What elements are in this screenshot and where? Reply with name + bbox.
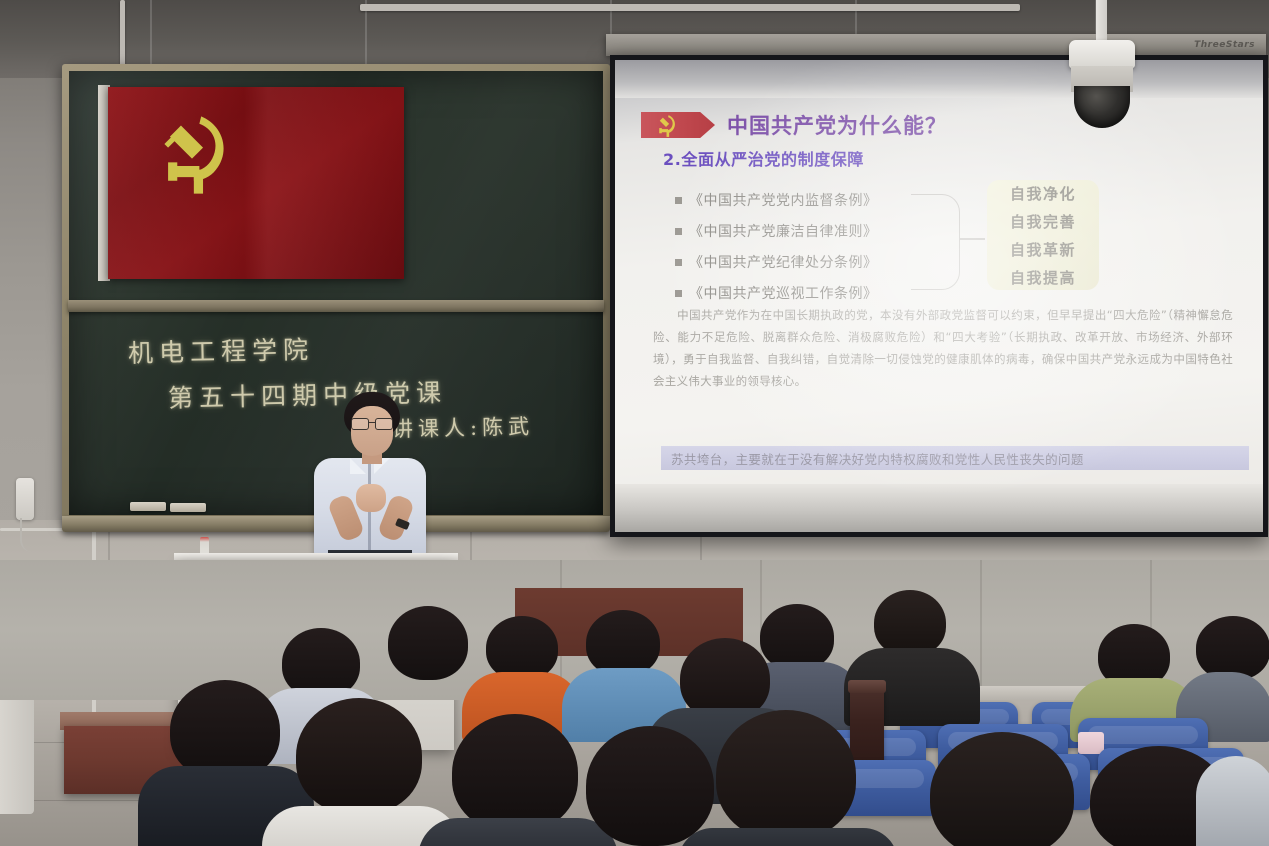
callout-box: 自我净化 自我完善 自我革新 自我提高 — [987, 180, 1099, 290]
bullet-label: 《中国共产党纪律处分条例》 — [689, 252, 878, 272]
projection-screen-housing — [606, 34, 1266, 56]
pink-cup[interactable] — [1078, 732, 1104, 754]
rear-wall-seam — [980, 560, 982, 700]
student-head — [452, 714, 578, 832]
speaker-hands — [356, 484, 386, 512]
phone-cord — [20, 518, 32, 552]
callout-line: 自我革新 — [1010, 239, 1076, 260]
curly-brace-graphic — [911, 194, 960, 290]
thermos-cap — [848, 680, 886, 693]
student-head — [170, 680, 280, 780]
student-head — [586, 610, 660, 676]
thermos-bottle[interactable] — [850, 688, 884, 770]
callout-line: 自我提高 — [1010, 267, 1076, 288]
slide-subtitle: 2.全面从严治党的制度保障 — [663, 146, 864, 170]
chalk-eraser[interactable] — [170, 503, 206, 512]
bullet-square-icon — [675, 197, 682, 204]
bullet-item: 《中国共产党党内监督条例》 — [675, 190, 878, 210]
bullet-square-icon — [675, 290, 682, 297]
bullet-square-icon — [675, 228, 682, 235]
chalk-line-1: 机电工程学院 — [128, 330, 315, 370]
projection-screen-frame: 中国共产党为什么能？ 2.全面从严治党的制度保障 《中国共产党党内监督条例》 《… — [610, 55, 1268, 537]
slide-bullet-list: 《中国共产党党内监督条例》 《中国共产党廉洁自律准则》 《中国共产党纪律处分条例… — [675, 190, 878, 314]
party-emblem-icon — [653, 113, 679, 139]
student-head — [486, 616, 558, 680]
student-body — [1196, 756, 1269, 846]
flag-cloth — [108, 87, 404, 279]
student-head — [586, 726, 714, 846]
student-head — [930, 732, 1074, 846]
presentation-slide: 中国共产党为什么能？ 2.全面从严治党的制度保障 《中国共产党党内监督条例》 《… — [615, 98, 1263, 484]
speaker-face — [351, 406, 393, 456]
highlight-bar: 苏共垮台，主要就在于没有解决好党内特权腐败和党性人民性丧失的问题 — [661, 446, 1249, 470]
callout-line: 自我净化 — [1010, 183, 1076, 204]
bullet-square-icon — [675, 259, 682, 266]
bullet-label: 《中国共产党党内监督条例》 — [689, 190, 878, 210]
wall-panel-seam — [150, 0, 152, 70]
projection-screen: 中国共产党为什么能？ 2.全面从严治党的制度保障 《中国共产党党内监督条例》 《… — [615, 60, 1263, 532]
screen-top-band — [615, 60, 1263, 98]
paragraph-text: 中国共产党作为在中国长期执政的党，本没有外部政党监督可以约束，但早早提出“四大危… — [653, 308, 1233, 388]
student-head — [296, 698, 422, 814]
callout-line: 自我完善 — [1010, 211, 1076, 232]
student-head — [1196, 616, 1269, 680]
ceiling-pipe — [360, 4, 1020, 11]
screen-bottom-band — [615, 484, 1263, 532]
party-flag — [98, 85, 404, 281]
bullet-label: 《中国共产党巡视工作条例》 — [689, 283, 878, 303]
camera-housing — [1069, 40, 1135, 68]
wall-phone[interactable] — [16, 478, 34, 520]
glasses-icon — [351, 418, 393, 429]
chalk-eraser[interactable] — [130, 502, 166, 511]
bullet-item: 《中国共产党巡视工作条例》 — [675, 283, 878, 303]
student-head — [716, 710, 856, 840]
student-head — [874, 590, 946, 656]
student-body — [678, 828, 898, 846]
blackboard-divider-rail — [68, 300, 604, 312]
bullet-label: 《中国共产党廉洁自律准则》 — [689, 221, 878, 241]
student-body — [418, 818, 618, 846]
student-head — [760, 604, 834, 670]
screen-brand-label: ThreeStars — [1194, 40, 1255, 50]
student-head — [388, 606, 468, 680]
title-banner-arrow — [641, 112, 715, 138]
bullet-item: 《中国共产党纪律处分条例》 — [675, 252, 878, 272]
hammer-sickle-icon — [146, 109, 238, 201]
wall-conduit — [120, 0, 125, 66]
speaker-figure — [300, 392, 440, 562]
highlight-text: 苏共垮台，主要就在于没有解决好党内特权腐败和党性人民性丧失的问题 — [671, 449, 1084, 468]
slide-title: 中国共产党为什么能？ — [727, 110, 947, 140]
audience-area — [0, 560, 1269, 846]
slide-paragraph: 中国共产党作为在中国长期执政的党，本没有外部政党监督可以约束，但早早提出“四大危… — [653, 304, 1233, 392]
classroom-photo: 机电工程学院 第五十四期中级党课 讲课人:陈武 ThreeStars — [0, 0, 1269, 846]
brace-stem — [959, 238, 985, 240]
bullet-item: 《中国共产党廉洁自律准则》 — [675, 221, 878, 241]
slide-title-row: 中国共产党为什么能？ — [641, 110, 947, 140]
